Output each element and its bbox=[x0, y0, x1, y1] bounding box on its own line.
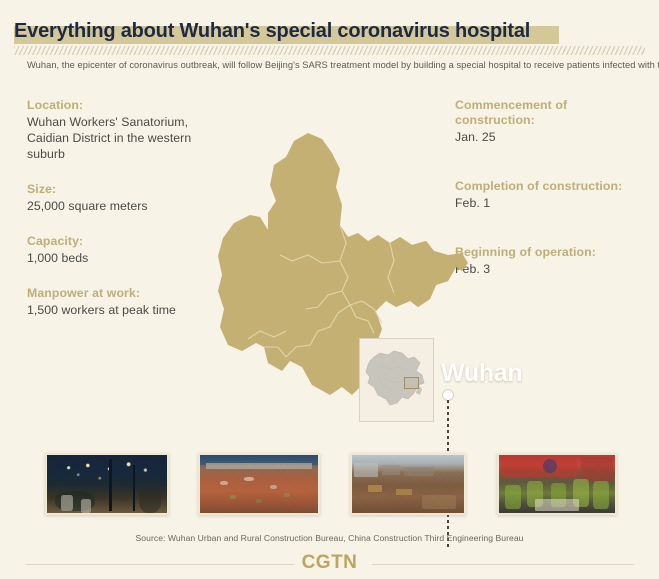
photo-image bbox=[499, 455, 615, 513]
fact-commencement: Commencement of construction: Jan. 25 bbox=[455, 98, 650, 145]
fact-label: Beginning of operation: bbox=[455, 245, 650, 260]
page-title: Everything about Wuhan's special coronav… bbox=[14, 16, 530, 46]
china-inset-map bbox=[359, 338, 434, 422]
photo-image bbox=[200, 455, 318, 513]
page-subtitle: Wuhan, the epicenter of coronavirus outb… bbox=[27, 60, 637, 70]
wuhan-highlight-box bbox=[404, 377, 419, 389]
title-wrap: Everything about Wuhan's special coronav… bbox=[14, 16, 530, 46]
photo-night-construction bbox=[45, 453, 169, 515]
source-credit: Source: Wuhan Urban and Rural Constructi… bbox=[0, 533, 659, 543]
fact-value: Feb. 3 bbox=[455, 261, 650, 277]
photo-workers-green-vests bbox=[497, 453, 617, 515]
wuhan-location-dot bbox=[443, 390, 453, 400]
fact-completion: Completion of construction: Feb. 1 bbox=[455, 179, 650, 211]
china-inset-svg bbox=[360, 339, 431, 419]
hatched-divider bbox=[14, 46, 645, 55]
photo-daytime-excavation bbox=[350, 453, 466, 515]
right-fact-column: Commencement of construction: Jan. 25 Co… bbox=[455, 98, 650, 311]
cgtn-logo: CGTN bbox=[0, 552, 659, 574]
fact-operation: Beginning of operation: Feb. 3 bbox=[455, 245, 650, 277]
fact-value: Jan. 25 bbox=[455, 129, 650, 145]
photo-image bbox=[352, 455, 464, 513]
wuhan-city-label: Wuhan bbox=[441, 359, 522, 388]
fact-label: Completion of construction: bbox=[455, 179, 650, 194]
photo-image bbox=[47, 455, 167, 513]
fact-label: Commencement of construction: bbox=[455, 98, 650, 128]
photo-aerial-red-earth bbox=[198, 453, 320, 515]
fact-value: Feb. 1 bbox=[455, 195, 650, 211]
infographic-page: Everything about Wuhan's special coronav… bbox=[0, 0, 659, 579]
